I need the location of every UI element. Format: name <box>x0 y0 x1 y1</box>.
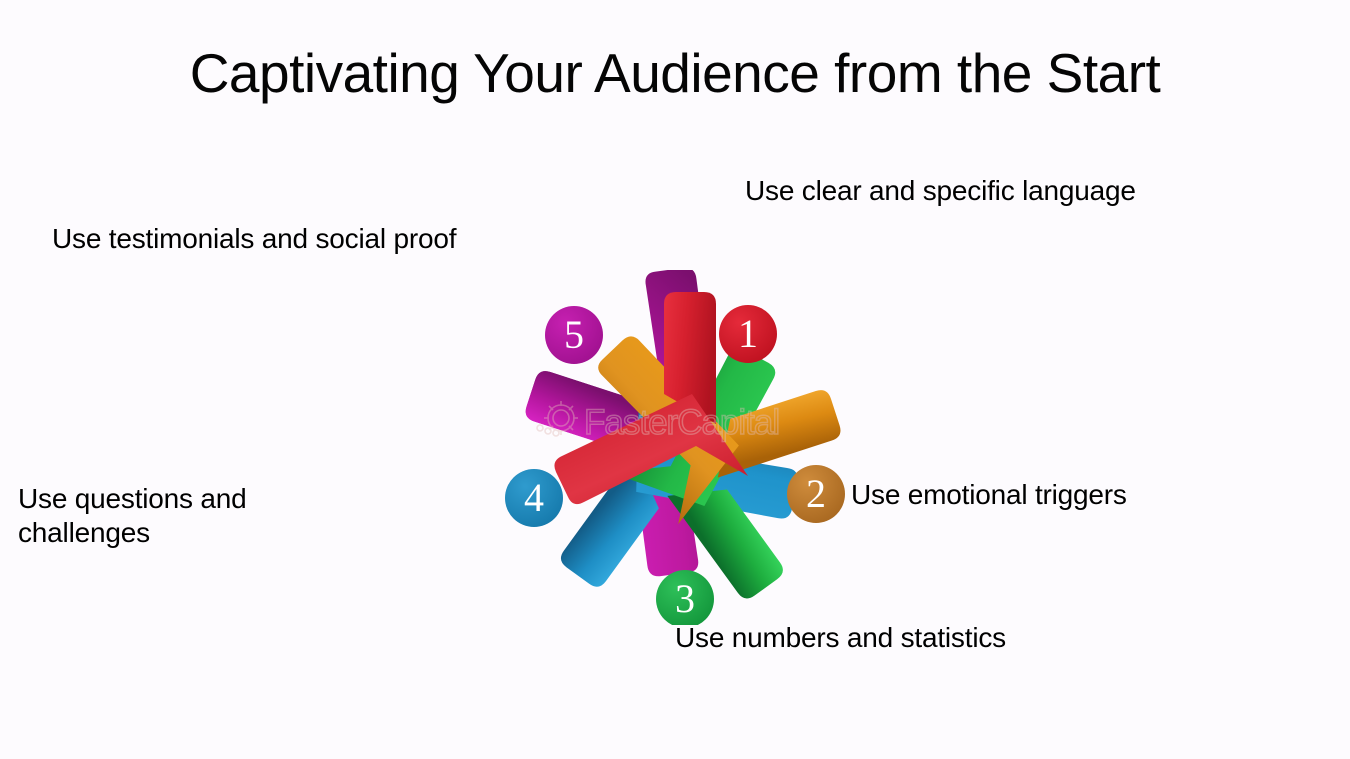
page-title: Captivating Your Audience from the Start <box>0 41 1350 106</box>
badge-5-number: 5 <box>564 312 584 357</box>
badge-1[interactable]: 1 <box>719 305 777 363</box>
callout-label-5: Use testimonials and social proof <box>52 222 522 256</box>
badge-3-number: 3 <box>675 576 695 621</box>
badge-4[interactable]: 4 <box>505 469 563 527</box>
slide-canvas: Captivating Your Audience from the Start <box>0 0 1350 759</box>
diagram-svg: 1 2 3 4 5 <box>495 270 865 625</box>
badge-2[interactable]: 2 <box>787 465 845 523</box>
callout-label-1: Use clear and specific language <box>745 174 1145 208</box>
badge-1-number: 1 <box>738 311 758 356</box>
pinwheel-star-diagram: 1 2 3 4 5 <box>495 270 865 625</box>
badge-5[interactable]: 5 <box>545 306 603 364</box>
callout-label-3: Use numbers and statistics <box>675 621 1145 655</box>
badge-3[interactable]: 3 <box>656 570 714 625</box>
callout-label-4: Use questions and challenges <box>18 482 378 550</box>
badge-2-number: 2 <box>806 471 826 516</box>
badge-4-number: 4 <box>524 475 544 520</box>
callout-label-2: Use emotional triggers <box>851 478 1251 512</box>
